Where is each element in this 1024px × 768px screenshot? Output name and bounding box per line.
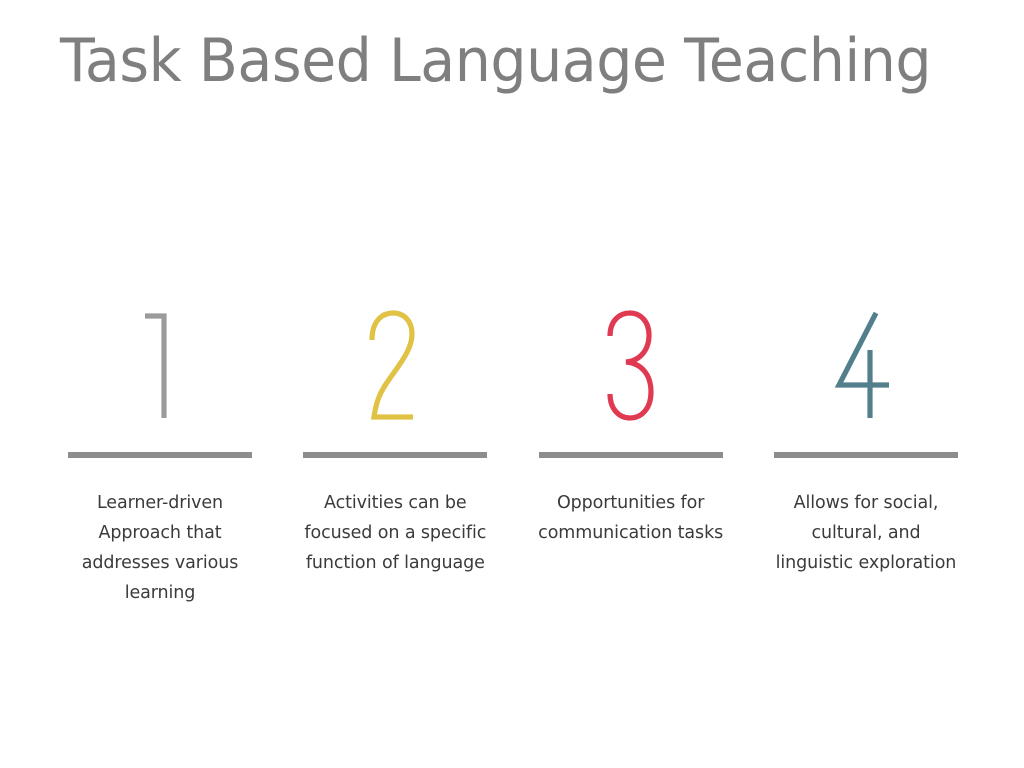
numeral-4-wrap: [766, 300, 966, 442]
numeral-3-wrap: [531, 300, 731, 442]
numeral-2-wrap: [295, 300, 495, 442]
numbered-point-2: Activities can be focused on a specific …: [295, 300, 495, 578]
slide-canvas: Task Based Language Teaching Learner-dri…: [0, 0, 1024, 768]
divider-bar-3: [539, 452, 723, 458]
numeral-4-glyph: [831, 306, 901, 424]
numeral-1-wrap: [60, 300, 260, 442]
divider-bar-2: [303, 452, 487, 458]
point-description-1: Learner-driven Approach that addresses v…: [65, 488, 255, 608]
numbered-point-1: Learner-driven Approach that addresses v…: [60, 300, 260, 608]
point-description-4: Allows for social, cultural, and linguis…: [771, 488, 961, 578]
numeral-1-glyph: [125, 306, 195, 424]
numbered-points-row: Learner-driven Approach that addresses v…: [60, 300, 966, 630]
divider-bar-1: [68, 452, 252, 458]
numeral-2-glyph: [360, 306, 430, 424]
divider-bar-4: [774, 452, 958, 458]
numeral-3-glyph: [596, 306, 666, 424]
point-description-2: Activities can be focused on a specific …: [300, 488, 490, 578]
point-description-3: Opportunities for communication tasks: [536, 488, 726, 548]
numbered-point-3: Opportunities for communication tasks: [531, 300, 731, 548]
page-title: Task Based Language Teaching: [60, 24, 934, 98]
numbered-point-4: Allows for social, cultural, and linguis…: [766, 300, 966, 578]
